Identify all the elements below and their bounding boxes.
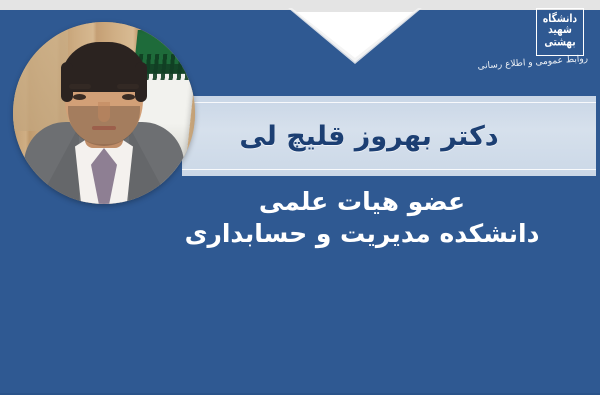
portrait-photo bbox=[13, 22, 195, 204]
hair-side-left bbox=[61, 62, 73, 102]
eye-right bbox=[122, 94, 135, 100]
wall-light-patch bbox=[13, 22, 68, 131]
eyebrow-right bbox=[117, 84, 139, 89]
logo-tagline: روابط عمومی و اطلاع رسانی bbox=[476, 54, 588, 72]
eyebrow-left bbox=[69, 84, 91, 89]
flag-emblem bbox=[141, 64, 188, 74]
person-name: دکتر بهروز قلیچ لی bbox=[182, 96, 556, 176]
eye-left bbox=[73, 94, 86, 100]
faculty-name: دانشکده مدیریت و حسابداری bbox=[162, 218, 562, 250]
name-ribbon: دکتر بهروز قلیچ لی bbox=[182, 96, 596, 176]
logo-mark-text: دانشگاه شهید بهشتی bbox=[537, 14, 583, 49]
mouth bbox=[92, 126, 116, 130]
profile-card: دکتر بهروز قلیچ لی bbox=[0, 0, 600, 400]
logo-mark-icon: دانشگاه شهید بهشتی bbox=[536, 8, 584, 56]
affiliation-block: عضو هیات علمی دانشکده مدیریت و حسابداری bbox=[162, 186, 562, 250]
hair-side-right bbox=[135, 62, 147, 102]
bottom-white-base bbox=[0, 395, 600, 400]
avatar bbox=[13, 22, 195, 204]
university-logo: دانشگاه شهید بهشتی روابط عمومی و اطلاع ر… bbox=[472, 6, 590, 88]
academic-role: عضو هیات علمی bbox=[162, 186, 562, 218]
nose bbox=[98, 102, 110, 122]
